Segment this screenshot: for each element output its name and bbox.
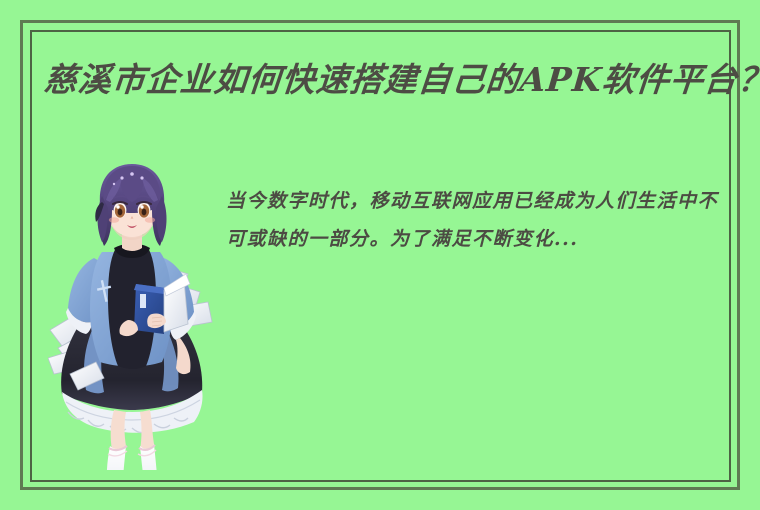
anime-girl-illustration [48, 162, 214, 470]
article-card: 慈溪市企业如何快速搭建自己的APK软件平台？ 当今数字时代，移动互联网应用已经成… [0, 0, 760, 510]
page-title: 慈溪市企业如何快速搭建自己的APK软件平台？ [42, 56, 760, 103]
article-excerpt: 当今数字时代，移动互联网应用已经成为人们生活中不可或缺的一部分。为了满足不断变化… [226, 182, 718, 258]
blush-right [145, 217, 155, 223]
blush-left [109, 217, 119, 223]
left-thigh [111, 410, 126, 451]
